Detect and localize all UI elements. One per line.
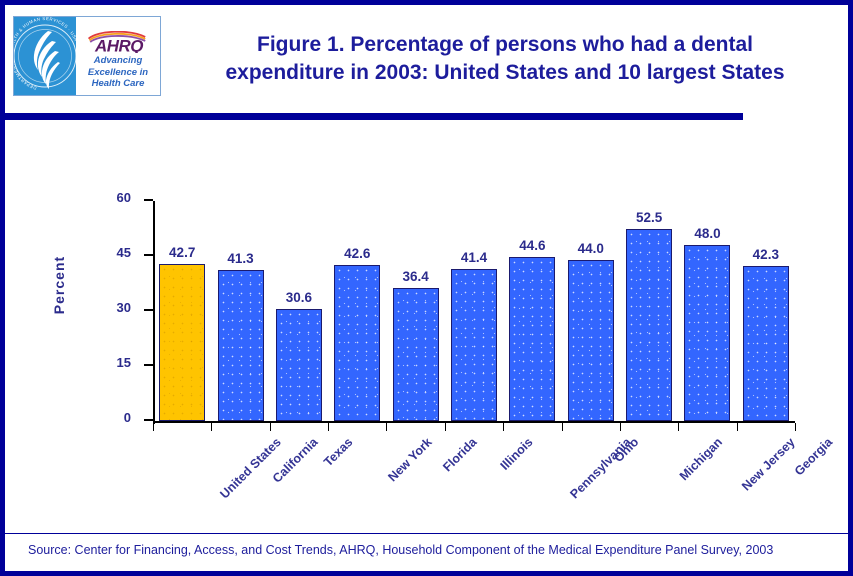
- x-axis-category-label: Florida: [440, 435, 479, 474]
- header-divider: [5, 113, 743, 120]
- y-axis-tick: 0: [144, 419, 153, 421]
- bar-value-label: 36.4: [381, 269, 451, 284]
- ahrq-wordmark: AHRQ Advancing Excellence in Health Care: [76, 17, 160, 95]
- y-axis-tick-label: 30: [117, 300, 131, 315]
- y-axis-tick-label: 15: [117, 355, 131, 370]
- footer-divider: [5, 533, 848, 534]
- bar-chart: Percent 015304560 42.741.330.642.636.441…: [5, 125, 848, 525]
- figure-header: DEPARTMENT OF HEALTH & HUMAN SERVICES · …: [5, 5, 848, 108]
- bar-value-label: 44.0: [556, 241, 626, 256]
- bar[interactable]: [218, 270, 264, 421]
- bar[interactable]: [509, 257, 555, 421]
- x-axis-tick: [678, 423, 679, 431]
- bar-value-label: 42.6: [322, 246, 392, 261]
- bar[interactable]: [276, 309, 322, 421]
- y-axis-tick: 15: [144, 364, 153, 366]
- x-axis-category-label: Georgia: [792, 435, 835, 478]
- figure-title: Figure 1. Percentage of persons who had …: [175, 31, 835, 87]
- hhs-seal-icon: DEPARTMENT OF HEALTH & HUMAN SERVICES · …: [14, 17, 76, 95]
- bar[interactable]: [393, 288, 439, 421]
- x-axis-tick: [328, 423, 329, 431]
- bar[interactable]: [334, 265, 380, 421]
- figure-page: DEPARTMENT OF HEALTH & HUMAN SERVICES · …: [0, 0, 853, 576]
- x-axis-tick: [270, 423, 271, 431]
- source-note: Source: Center for Financing, Access, an…: [28, 543, 773, 557]
- bar[interactable]: [626, 229, 672, 422]
- x-axis-line: [153, 421, 795, 423]
- bar[interactable]: [568, 260, 614, 421]
- x-axis-tick: [386, 423, 387, 431]
- x-axis-tick: [153, 423, 154, 431]
- bar-value-label: 52.5: [614, 210, 684, 225]
- ahrq-tagline-line2: Excellence in: [76, 67, 160, 79]
- y-axis-tick: 60: [144, 199, 153, 201]
- y-axis-tick: 30: [144, 309, 153, 311]
- x-axis-category-label: Illinois: [498, 435, 536, 473]
- x-axis-category-label: New Jersey: [740, 435, 799, 494]
- x-axis-tick: [503, 423, 504, 431]
- y-axis-line: [153, 201, 155, 424]
- x-axis-tick: [795, 423, 796, 431]
- bar-value-label: 42.3: [731, 247, 801, 262]
- bar[interactable]: [159, 264, 205, 421]
- x-axis-category-label: Texas: [321, 435, 355, 469]
- x-axis-category-label: United States: [218, 435, 284, 501]
- y-axis-tick-label: 60: [117, 190, 131, 205]
- y-axis-title: Percent: [51, 225, 67, 345]
- bar[interactable]: [451, 269, 497, 421]
- ahrq-tagline-line3: Health Care: [76, 78, 160, 90]
- plot-area: 015304560 42.741.330.642.636.441.444.644…: [153, 201, 795, 423]
- x-axis-tick: [562, 423, 563, 431]
- bar[interactable]: [684, 245, 730, 421]
- x-axis-category-label: New York: [386, 435, 435, 484]
- x-axis-tick: [737, 423, 738, 431]
- y-axis-tick-label: 45: [117, 245, 131, 260]
- ahrq-tagline-line1: Advancing: [76, 55, 160, 67]
- bar-value-label: 30.6: [264, 290, 334, 305]
- x-axis-category-label: Michigan: [677, 435, 725, 483]
- svg-text:AHRQ: AHRQ: [94, 36, 143, 53]
- y-axis-tick-label: 0: [124, 410, 131, 425]
- ahrq-hhs-logo: DEPARTMENT OF HEALTH & HUMAN SERVICES · …: [13, 16, 161, 96]
- figure-title-line1: Figure 1. Percentage of persons who had …: [175, 31, 835, 59]
- x-axis-tick: [620, 423, 621, 431]
- figure-title-line2: expenditure in 2003: United States and 1…: [175, 59, 835, 87]
- bar-value-label: 41.3: [206, 251, 276, 266]
- bar[interactable]: [743, 266, 789, 421]
- ahrq-tagline: Advancing Excellence in Health Care: [76, 55, 160, 90]
- bar-value-label: 48.0: [672, 226, 742, 241]
- x-axis-tick: [445, 423, 446, 431]
- x-axis-tick: [211, 423, 212, 431]
